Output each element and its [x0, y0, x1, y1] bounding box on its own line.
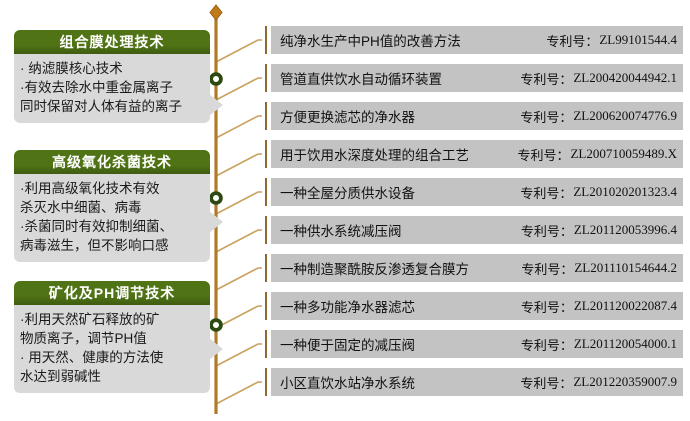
patent-title: 一种多功能净水器滤芯 — [280, 296, 415, 316]
connector-to-patent-row-3 — [216, 116, 262, 138]
connector-to-patent-row-6 — [216, 230, 262, 252]
patent-row-5[interactable]: 一种全屋分质供水设备专利号：ZL201020201323.4 — [271, 178, 683, 206]
patent-number-label: 专利号： — [517, 145, 569, 164]
callout-bullet-line: · 用天然、健康的方法使 — [20, 348, 204, 367]
callout-mineralization-and-ph-adjustment-technology[interactable]: 矿化及PH调节技术·利用天然矿石释放的矿物质离子，调节PH值· 用天然、健康的方… — [14, 281, 210, 393]
diamond-marker — [210, 5, 222, 20]
row-tick-9 — [265, 330, 267, 358]
row-tick-4 — [265, 140, 267, 168]
callout-bullet-line: ·杀菌同时有效抑制细菌、 — [20, 217, 204, 236]
connector-to-patent-row-8 — [216, 306, 262, 328]
patent-title: 一种制造聚酰胺反渗透复合膜方 — [280, 258, 469, 278]
callout-body: ·利用天然矿石释放的矿物质离子，调节PH值· 用天然、健康的方法使水达到弱碱性 — [14, 305, 210, 393]
callout-bullet-line: 水达到弱碱性 — [20, 367, 204, 386]
patent-number-value: ZL201220359007.9 — [572, 374, 677, 390]
patent-number-label: 专利号： — [521, 259, 573, 278]
callout-body: · 纳滤膜核心技术·有效去除水中重金属离子同时保留对人体有益的离子 — [14, 54, 210, 123]
patent-row-3[interactable]: 方便更换滤芯的净水器专利号：ZL200620074776.9 — [271, 102, 683, 130]
patent-number-value: ZL201120053996.4 — [573, 222, 677, 238]
patent-row-2[interactable]: 管道直供饮水自动循环装置专利号：ZL200420044942.1 — [271, 64, 683, 92]
row-tick-10 — [265, 368, 267, 396]
row-tick-5 — [265, 178, 267, 206]
diagram-canvas: 组合膜处理技术· 纳滤膜核心技术·有效去除水中重金属离子同时保留对人体有益的离子… — [0, 0, 690, 421]
callout-title: 矿化及PH调节技术 — [14, 281, 210, 305]
row-tick-6 — [265, 216, 267, 244]
callout-advanced-oxidation-sterilization-technology[interactable]: 高级氧化杀菌技术·利用高级氧化技术有效杀灭水中细菌、病毒·杀菌同时有效抑制细菌、… — [14, 150, 210, 262]
patent-number-label: 专利号： — [520, 183, 572, 202]
patent-title: 小区直饮水站净水系统 — [280, 372, 415, 392]
callout-pointer-tip — [209, 338, 223, 360]
patent-title: 一种全屋分质供水设备 — [280, 182, 415, 202]
patent-number-label: 专利号： — [520, 107, 572, 126]
patent-number-label: 专利号： — [520, 373, 572, 392]
callout-pointer-tip — [209, 211, 223, 233]
node-3-ring-marker — [209, 318, 223, 332]
patent-number-value: ZL99101544.4 — [598, 32, 677, 48]
callout-pointer-tip — [209, 94, 223, 116]
patent-row-4[interactable]: 用于饮用水深度处理的组合工艺专利号：ZL200710059489.X — [271, 140, 683, 168]
patent-row-7[interactable]: 一种制造聚酰胺反渗透复合膜方专利号：ZL201110154644.2 — [271, 254, 683, 282]
callout-bullet-line: 病毒滋生，但不影响口感 — [20, 236, 204, 255]
patent-title: 方便更换滤芯的净水器 — [280, 106, 415, 126]
patent-number-label: 专利号： — [520, 69, 572, 88]
patent-number-label: 专利号： — [546, 31, 598, 50]
row-tick-2 — [265, 64, 267, 92]
patent-number-value: ZL200710059489.X — [569, 146, 677, 162]
callout-combined-membrane-technology[interactable]: 组合膜处理技术· 纳滤膜核心技术·有效去除水中重金属离子同时保留对人体有益的离子 — [14, 30, 210, 123]
patent-title: 一种便于固定的减压阀 — [280, 334, 415, 354]
patent-row-8[interactable]: 一种多功能净水器滤芯专利号：ZL201120022087.4 — [271, 292, 683, 320]
callout-bullet-line: ·利用天然矿石释放的矿 — [20, 310, 204, 329]
patent-number-label: 专利号： — [521, 297, 573, 316]
callout-title: 组合膜处理技术 — [14, 30, 210, 54]
patent-number-value: ZL201020201323.4 — [572, 184, 677, 200]
callout-bullet-line: 物质离子，调节PH值 — [20, 329, 204, 348]
callout-title: 高级氧化杀菌技术 — [14, 150, 210, 174]
node-2-ring-marker — [209, 191, 223, 205]
patent-number-value: ZL200620074776.9 — [572, 108, 677, 124]
patent-title: 用于饮用水深度处理的组合工艺 — [280, 144, 469, 164]
callout-bullet-line: ·有效去除水中重金属离子 — [20, 78, 204, 97]
patent-row-1[interactable]: 纯净水生产中PH值的改善方法专利号：ZL99101544.4 — [271, 26, 683, 54]
connector-to-patent-row-10 — [216, 382, 262, 404]
node-1-ring-marker — [209, 72, 223, 86]
patent-number-label: 专利号： — [521, 335, 573, 354]
callout-body: ·利用高级氧化技术有效杀灭水中细菌、病毒·杀菌同时有效抑制细菌、病毒滋生，但不影… — [14, 174, 210, 262]
callout-bullet-line: 杀灭水中细菌、病毒 — [20, 198, 204, 217]
callout-bullet-line: ·利用高级氧化技术有效 — [20, 179, 204, 198]
patent-title: 管道直供饮水自动循环装置 — [280, 68, 442, 88]
patent-title: 一种供水系统减压阀 — [280, 220, 402, 240]
patent-row-6[interactable]: 一种供水系统减压阀专利号：ZL201120053996.4 — [271, 216, 683, 244]
patent-title: 纯净水生产中PH值的改善方法 — [280, 30, 461, 50]
patent-number-value: ZL201110154644.2 — [573, 260, 677, 276]
patent-number-label: 专利号： — [521, 221, 573, 240]
connector-to-patent-row-4 — [216, 154, 262, 176]
patent-row-9[interactable]: 一种便于固定的减压阀专利号：ZL201120054000.1 — [271, 330, 683, 358]
connector-to-patent-row-7 — [216, 268, 262, 290]
row-tick-7 — [265, 254, 267, 282]
callout-bullet-line: 同时保留对人体有益的离子 — [20, 97, 204, 116]
row-tick-1 — [265, 26, 267, 54]
patent-number-value: ZL200420044942.1 — [572, 70, 677, 86]
callout-bullet-line: · 纳滤膜核心技术 — [20, 59, 204, 78]
connector-to-patent-row-1 — [216, 40, 262, 62]
patent-row-10[interactable]: 小区直饮水站净水系统专利号：ZL201220359007.9 — [271, 368, 683, 396]
patent-number-value: ZL201120054000.1 — [573, 336, 677, 352]
row-tick-8 — [265, 292, 267, 320]
row-tick-3 — [265, 102, 267, 130]
patent-number-value: ZL201120022087.4 — [573, 298, 677, 314]
